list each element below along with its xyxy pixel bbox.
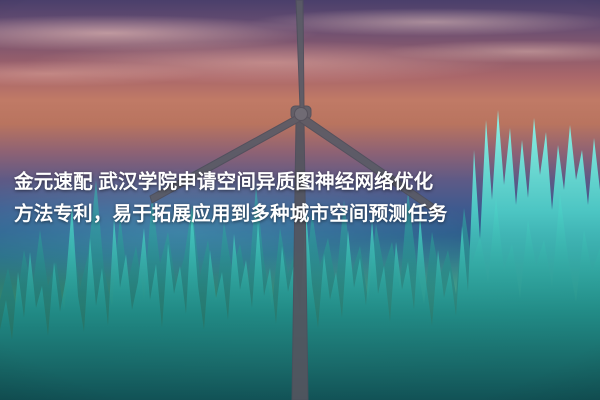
caption-line-1: 金元速配 武汉学院申请空间异质图神经网络优化 (14, 166, 586, 198)
screenshot-root: 金元速配 武汉学院申请空间异质图神经网络优化 方法专利，易于拓展应用到多种城市空… (0, 0, 600, 400)
caption-overlay: 金元速配 武汉学院申请空间异质图神经网络优化 方法专利，易于拓展应用到多种城市空… (14, 166, 586, 230)
caption-line-2: 方法专利，易于拓展应用到多种城市空间预测任务 (14, 198, 586, 230)
